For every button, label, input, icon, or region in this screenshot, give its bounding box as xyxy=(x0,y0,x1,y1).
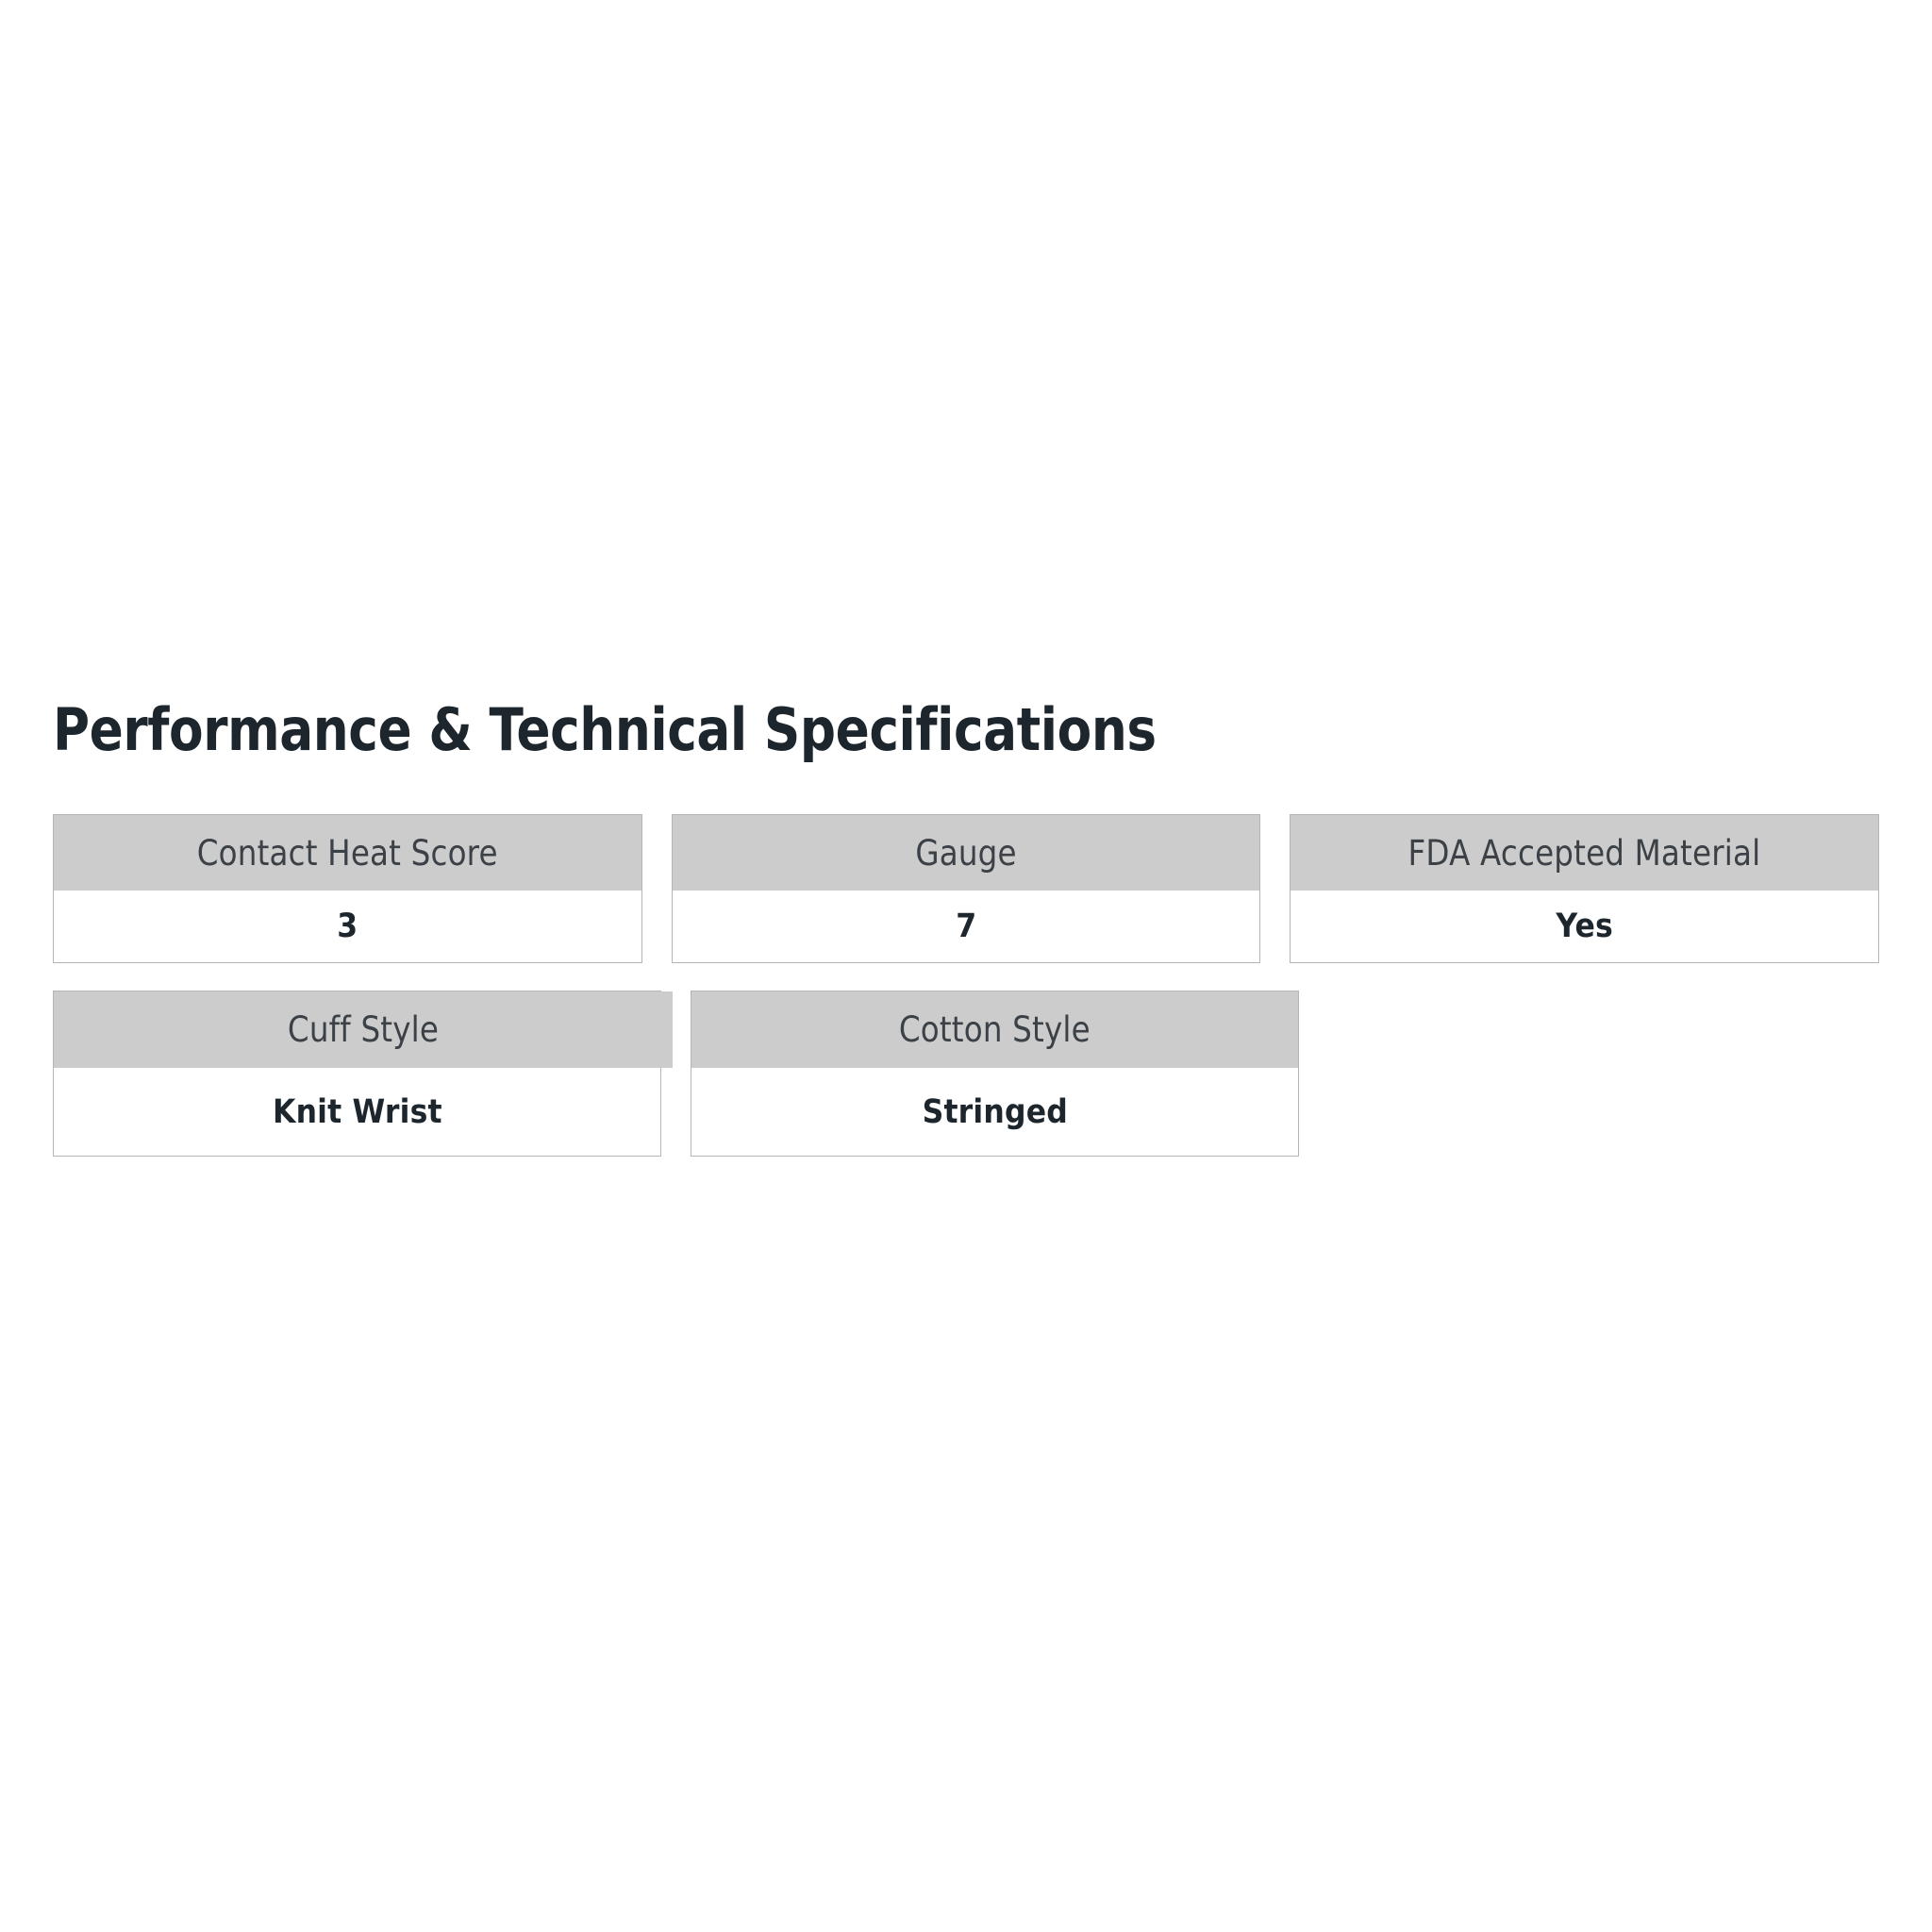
page-title: Performance & Technical Specifications xyxy=(53,700,1624,759)
spec-card-header: Gauge xyxy=(673,815,1260,891)
spec-card-value: Yes xyxy=(1556,908,1613,945)
spec-card-value-area: Stringed xyxy=(691,1068,1298,1156)
spec-card-value: Knit Wrist xyxy=(273,1093,442,1131)
spec-card-label: FDA Accepted Material xyxy=(1408,833,1761,874)
spec-card-label: Cotton Style xyxy=(899,1009,1091,1050)
spec-card-label: Contact Heat Score xyxy=(197,833,498,874)
spec-card-value-area: Yes xyxy=(1291,891,1878,962)
spec-card-label: Cuff Style xyxy=(288,1009,439,1050)
spec-card-value: 3 xyxy=(337,908,358,945)
performance-technical-specifications-section: Performance & Technical Specifications C… xyxy=(53,700,1879,1184)
spec-card-header: Cuff Style xyxy=(54,991,673,1068)
spec-card-label: Gauge xyxy=(915,833,1016,874)
spec-card-row: Cuff Style Knit Wrist Cotton Style Strin… xyxy=(53,991,1879,1157)
spec-card-header: FDA Accepted Material xyxy=(1291,815,1878,891)
spec-card-fda-accepted-material: FDA Accepted Material Yes xyxy=(1290,814,1879,963)
spec-card-gauge: Gauge 7 xyxy=(672,814,1261,963)
spec-card-row: Contact Heat Score 3 Gauge 7 FDA Accepte… xyxy=(53,814,1879,963)
spec-card-value-area: 7 xyxy=(673,891,1260,962)
spec-card-value-area: 3 xyxy=(54,891,641,962)
spec-card-contact-heat-score: Contact Heat Score 3 xyxy=(53,814,642,963)
spec-card-cotton-style: Cotton Style Stringed xyxy=(691,991,1299,1157)
spec-card-header: Contact Heat Score xyxy=(54,815,641,891)
spec-card-header: Cotton Style xyxy=(691,991,1298,1068)
spec-card-value: 7 xyxy=(956,908,976,945)
spec-card-cuff-style: Cuff Style Knit Wrist xyxy=(53,991,661,1157)
spec-card-value-area: Knit Wrist xyxy=(54,1068,660,1156)
spec-card-value: Stringed xyxy=(922,1093,1067,1131)
